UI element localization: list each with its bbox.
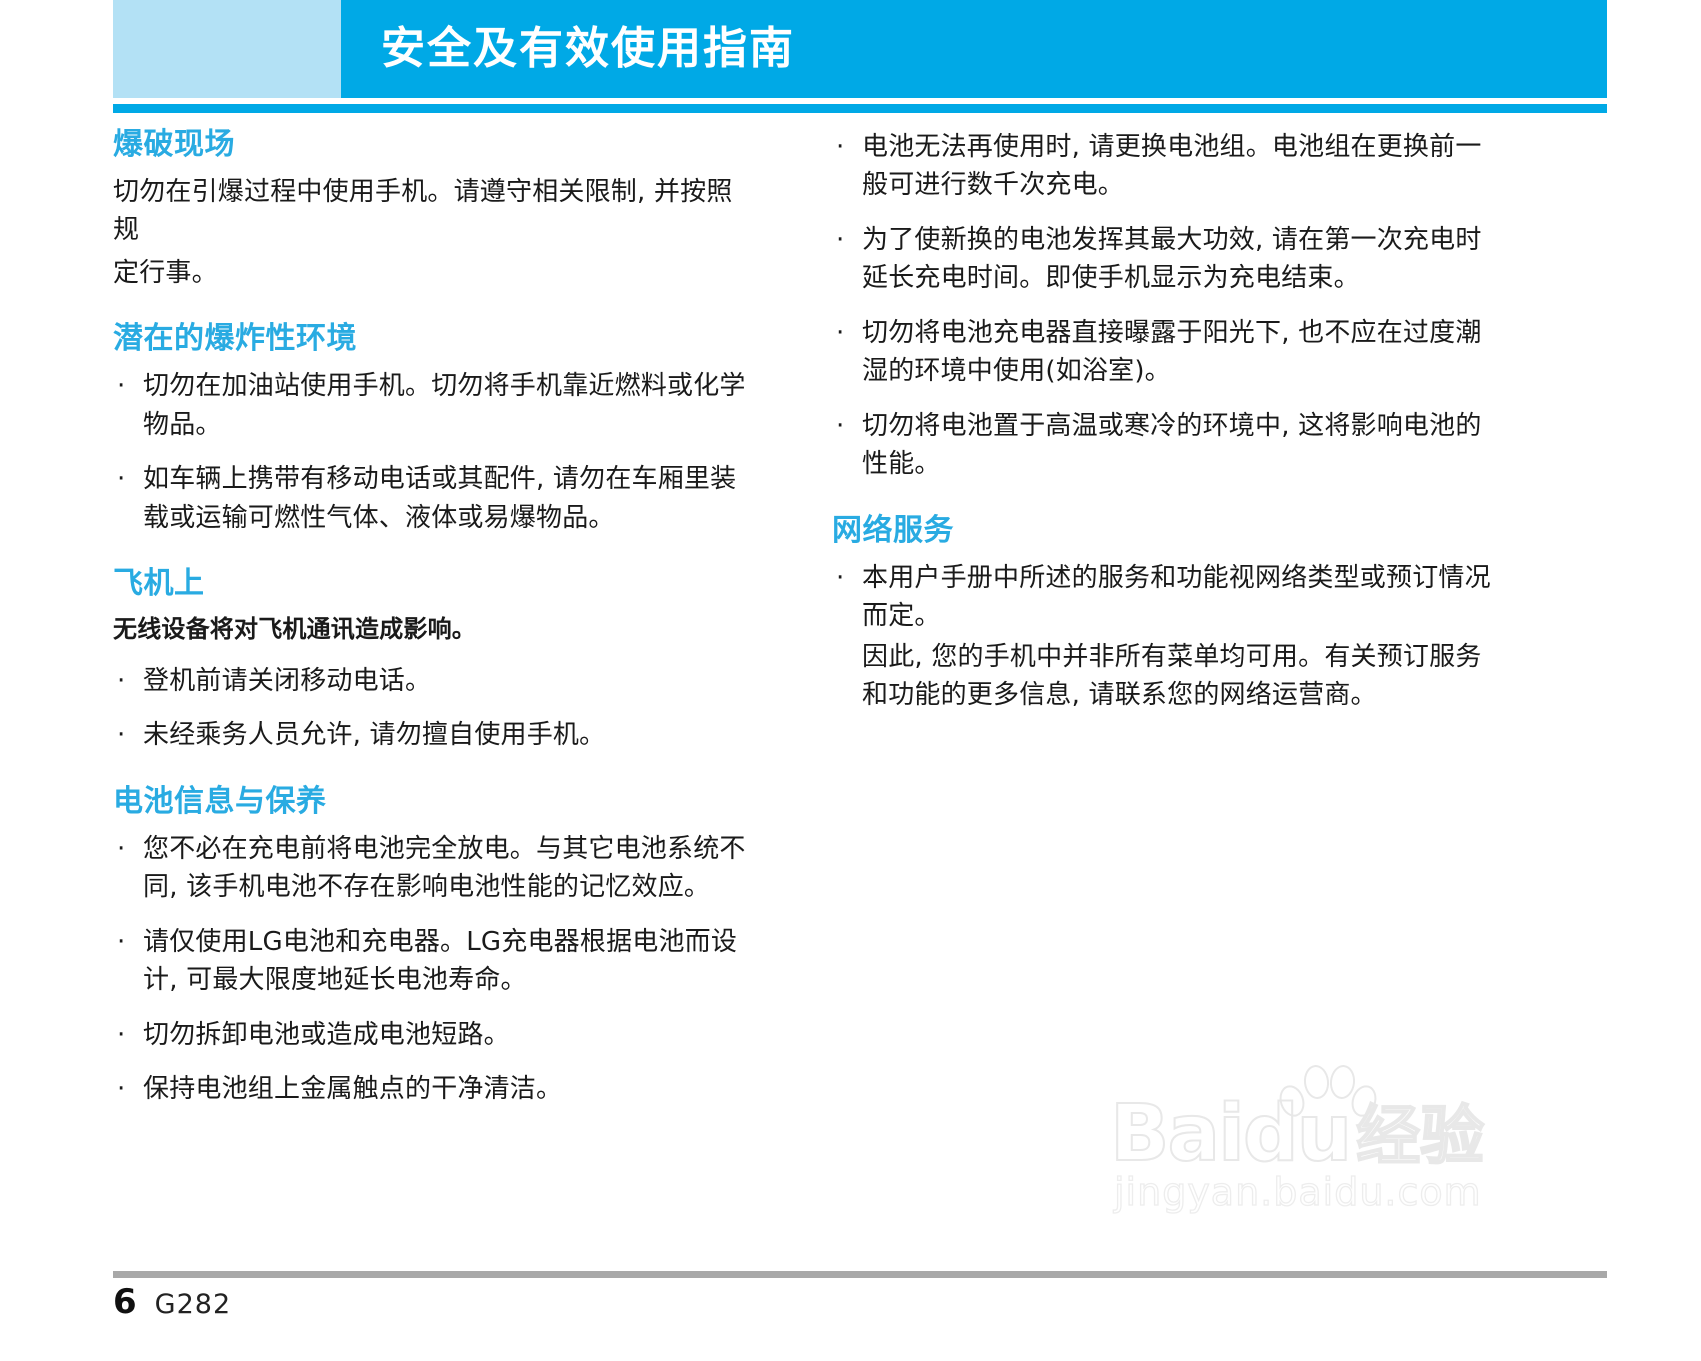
- page-number: 6: [113, 1285, 137, 1319]
- bullet-dot-icon: ·: [117, 1070, 125, 1108]
- header-divider-rule: [113, 104, 1607, 113]
- page-title: 安全及有效使用指南: [381, 27, 795, 71]
- list-item-text: 本用户手册中所述的服务和功能视网络类型或预订情况而定。: [862, 563, 1491, 631]
- list-item: · 未经乘务人员允许, 请勿擅自使用手机。: [113, 716, 753, 754]
- list-item: · 为了使新换的电池发挥其最大功效, 请在第一次充电时延长充电时间。即使手机显示…: [832, 221, 1492, 298]
- page-content: 爆破现场 切勿在引爆过程中使用手机。请遵守相关限制, 并按照规 定行事。 潜在的…: [0, 128, 1701, 1228]
- list-item: · 切勿在加油站使用手机。切勿将手机靠近燃料或化学物品。: [113, 367, 753, 444]
- section-explosive-environment: 潜在的爆炸性环境 · 切勿在加油站使用手机。切勿将手机靠近燃料或化学物品。 · …: [113, 322, 753, 537]
- section-heading: 爆破现场: [113, 128, 753, 161]
- paragraph-line: 定行事。: [113, 254, 753, 292]
- section-network-service: 网络服务 · 本用户手册中所述的服务和功能视网络类型或预订情况而定。 因此, 您…: [832, 514, 1492, 715]
- list-item: · 本用户手册中所述的服务和功能视网络类型或预订情况而定。 因此, 您的手机中并…: [832, 559, 1492, 715]
- bullet-list: · 您不必在充电前将电池完全放电。与其它电池系统不同, 该手机电池不存在影响电池…: [113, 830, 753, 1109]
- section-on-aircraft: 飞机上 无线设备将对飞机通讯造成影响。 · 登机前请关闭移动电话。 · 未经乘务…: [113, 567, 753, 754]
- paragraph-line: 切勿在引爆过程中使用手机。请遵守相关限制, 并按照规: [113, 173, 753, 250]
- list-item-text: 切勿在加油站使用手机。切勿将手机靠近燃料或化学物品。: [143, 371, 746, 439]
- list-item-text: 登机前请关闭移动电话。: [143, 666, 431, 696]
- section-heading: 潜在的爆炸性环境: [113, 322, 753, 355]
- page-footer: 6 G282: [113, 1285, 231, 1319]
- list-item: · 保持电池组上金属触点的干净清洁。: [113, 1070, 753, 1108]
- list-item: · 切勿将电池充电器直接曝露于阳光下, 也不应在过度潮湿的环境中使用(如浴室)。: [832, 314, 1492, 391]
- section-heading: 飞机上: [113, 567, 753, 600]
- bullet-dot-icon: ·: [836, 314, 844, 352]
- list-item-text: 为了使新换的电池发挥其最大功效, 请在第一次充电时延长充电时间。即使手机显示为充…: [862, 225, 1482, 293]
- section-lead-text: 无线设备将对飞机通讯造成影响。: [113, 612, 753, 648]
- list-item: · 请仅使用LG电池和充电器。LG充电器根据电池而设计, 可最大限度地延长电池寿…: [113, 923, 753, 1000]
- bullet-dot-icon: ·: [117, 662, 125, 700]
- list-item-continuation-text: 因此, 您的手机中并非所有菜单均可用。有关预订服务和功能的更多信息, 请联系您的…: [862, 638, 1492, 715]
- header-accent-block: 安全及有效使用指南: [341, 0, 1607, 98]
- bullet-list: · 本用户手册中所述的服务和功能视网络类型或预订情况而定。 因此, 您的手机中并…: [832, 559, 1492, 715]
- bullet-dot-icon: ·: [117, 367, 125, 405]
- section-battery-info-care: 电池信息与保养 · 您不必在充电前将电池完全放电。与其它电池系统不同, 该手机电…: [113, 785, 753, 1109]
- bullet-dot-icon: ·: [117, 460, 125, 498]
- list-item: · 切勿将电池置于高温或寒冷的环境中, 这将影响电池的性能。: [832, 407, 1492, 484]
- left-column: 爆破现场 切勿在引爆过程中使用手机。请遵守相关限制, 并按照规 定行事。 潜在的…: [113, 128, 753, 1139]
- list-item-text: 电池无法再使用时, 请更换电池组。电池组在更换前一般可进行数千次充电。: [862, 132, 1482, 200]
- list-item-text: 如车辆上携带有移动电话或其配件, 请勿在车厢里装载或运输可燃性气体、液体或易爆物…: [143, 464, 736, 532]
- list-item: · 切勿拆卸电池或造成电池短路。: [113, 1016, 753, 1054]
- header-tint-block: [113, 0, 341, 98]
- section-heading: 电池信息与保养: [113, 785, 753, 818]
- list-item: · 登机前请关闭移动电话。: [113, 662, 753, 700]
- bullet-dot-icon: ·: [117, 716, 125, 754]
- bullet-dot-icon: ·: [836, 407, 844, 445]
- bullet-dot-icon: ·: [117, 923, 125, 961]
- right-column: · 电池无法再使用时, 请更换电池组。电池组在更换前一般可进行数千次充电。 · …: [832, 128, 1492, 745]
- list-item-text: 切勿将电池充电器直接曝露于阳光下, 也不应在过度潮湿的环境中使用(如浴室)。: [862, 318, 1482, 386]
- bullet-dot-icon: ·: [836, 128, 844, 166]
- bullet-list: · 切勿在加油站使用手机。切勿将手机靠近燃料或化学物品。 · 如车辆上携带有移动…: [113, 367, 753, 537]
- bullet-list: · 电池无法再使用时, 请更换电池组。电池组在更换前一般可进行数千次充电。 · …: [832, 128, 1492, 484]
- list-item-text: 请仅使用LG电池和充电器。LG充电器根据电池而设计, 可最大限度地延长电池寿命。: [143, 927, 737, 995]
- list-item-text: 未经乘务人员允许, 请勿擅自使用手机。: [143, 720, 605, 750]
- list-item-text: 切勿拆卸电池或造成电池短路。: [143, 1020, 510, 1050]
- list-item-text: 您不必在充电前将电池完全放电。与其它电池系统不同, 该手机电池不存在影响电池性能…: [143, 834, 746, 902]
- list-item-text: 保持电池组上金属触点的干净清洁。: [143, 1074, 562, 1104]
- section-battery-continued: · 电池无法再使用时, 请更换电池组。电池组在更换前一般可进行数千次充电。 · …: [832, 128, 1492, 484]
- page-header: 安全及有效使用指南: [113, 0, 1607, 98]
- list-item: · 如车辆上携带有移动电话或其配件, 请勿在车厢里装载或运输可燃性气体、液体或易…: [113, 460, 753, 537]
- model-name: G282: [155, 1291, 231, 1318]
- section-blasting-site: 爆破现场 切勿在引爆过程中使用手机。请遵守相关限制, 并按照规 定行事。: [113, 128, 753, 292]
- list-item: · 您不必在充电前将电池完全放电。与其它电池系统不同, 该手机电池不存在影响电池…: [113, 830, 753, 907]
- list-item-text: 切勿将电池置于高温或寒冷的环境中, 这将影响电池的性能。: [862, 411, 1482, 479]
- bullet-dot-icon: ·: [836, 221, 844, 259]
- bullet-dot-icon: ·: [836, 559, 844, 597]
- section-heading: 网络服务: [832, 514, 1492, 547]
- footer-divider-rule: [113, 1271, 1607, 1278]
- bullet-dot-icon: ·: [117, 830, 125, 868]
- bullet-dot-icon: ·: [117, 1016, 125, 1054]
- bullet-list: · 登机前请关闭移动电话。 · 未经乘务人员允许, 请勿擅自使用手机。: [113, 662, 753, 755]
- list-item: · 电池无法再使用时, 请更换电池组。电池组在更换前一般可进行数千次充电。: [832, 128, 1492, 205]
